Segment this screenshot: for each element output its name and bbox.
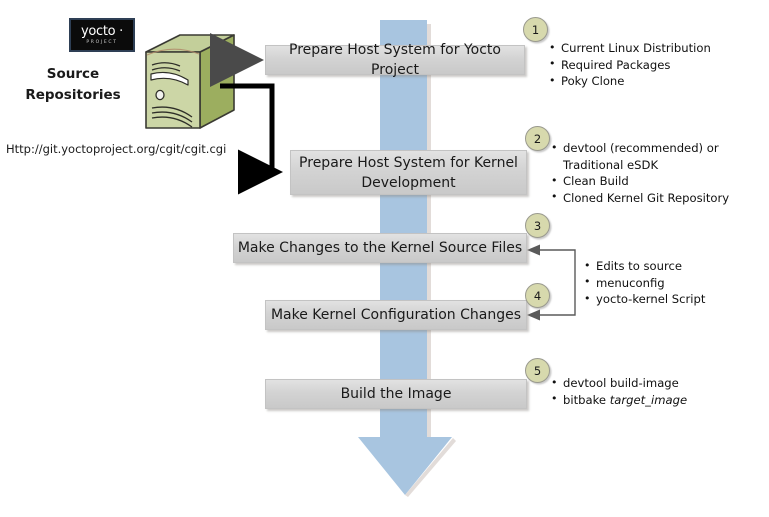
logo-subtext: PROJECT [86, 39, 117, 46]
process-box-step-1[interactable]: Prepare Host System for Yocto Project [265, 45, 525, 75]
process-box-label: Make Changes to the Kernel Source Files [238, 238, 522, 258]
step-number-4: 4 [525, 283, 550, 308]
step-number-2: 2 [525, 126, 550, 151]
process-flow-spine [380, 20, 427, 440]
step-2-bullets: devtool (recommended) or Traditional eSD… [551, 140, 769, 206]
bullet-item: Current Linux Distribution [549, 40, 764, 57]
step-number-5: 5 [525, 358, 550, 383]
step-number-1: 1 [523, 17, 548, 42]
process-box-label: Build the Image [341, 384, 452, 404]
bullet-item: menuconfig [584, 275, 764, 292]
bullet-item: Required Packages [549, 57, 764, 74]
step-1-bullets: Current Linux Distribution Required Pack… [549, 40, 764, 90]
process-box-step-4[interactable]: Make Kernel Configuration Changes [265, 300, 527, 330]
bullet-item: devtool (recommended) or Traditional eSD… [551, 140, 769, 173]
process-box-step-3[interactable]: Make Changes to the Kernel Source Files [233, 233, 527, 263]
step-5-bullets: devtool build-image bitbake target_image [551, 375, 761, 408]
server-tower-icon [134, 32, 240, 140]
bitbake-command: bitbake [563, 393, 610, 407]
bullet-item: Clean Build [551, 173, 769, 190]
source-label-line1: Source [12, 64, 134, 85]
bullet-item-bitbake: bitbake target_image [551, 392, 761, 409]
step-number-value: 3 [534, 219, 541, 233]
logo-wordmark: yocto · [81, 25, 123, 38]
process-box-step-2[interactable]: Prepare Host System for Kernel Developme… [290, 150, 527, 195]
step-number-value: 4 [534, 289, 541, 303]
source-label-line2: Repositories [12, 85, 134, 106]
bullet-item: devtool build-image [551, 375, 761, 392]
bullet-item: Poky Clone [549, 73, 764, 90]
yocto-project-logo: yocto · PROJECT [69, 18, 135, 52]
process-box-label: Prepare Host System for Yocto Project [266, 40, 524, 80]
diagram-canvas: yocto · PROJECT Source Repositories Http… [0, 0, 769, 517]
source-repository-url: Http://git.yoctoproject.org/cgit/cgit.cg… [6, 142, 226, 156]
step-number-value: 1 [532, 23, 539, 37]
source-repositories-label: Source Repositories [12, 64, 134, 106]
step-number-value: 5 [534, 364, 541, 378]
bullet-item: yocto-kernel Script [584, 291, 764, 308]
process-box-label: Make Kernel Configuration Changes [271, 305, 521, 325]
flow-arrow-down-icon [335, 437, 475, 507]
process-box-step-5[interactable]: Build the Image [265, 379, 527, 409]
bullet-item: Cloned Kernel Git Repository [551, 190, 769, 207]
process-box-label: Prepare Host System for Kernel Developme… [291, 153, 526, 193]
step-3-4-bullets: Edits to source menuconfig yocto-kernel … [584, 258, 764, 308]
bullet-item: Edits to source [584, 258, 764, 275]
step-number-value: 2 [534, 132, 541, 146]
bitbake-target-arg: target_image [610, 393, 687, 407]
spine-shadow [427, 24, 431, 440]
step-number-3: 3 [525, 213, 550, 238]
